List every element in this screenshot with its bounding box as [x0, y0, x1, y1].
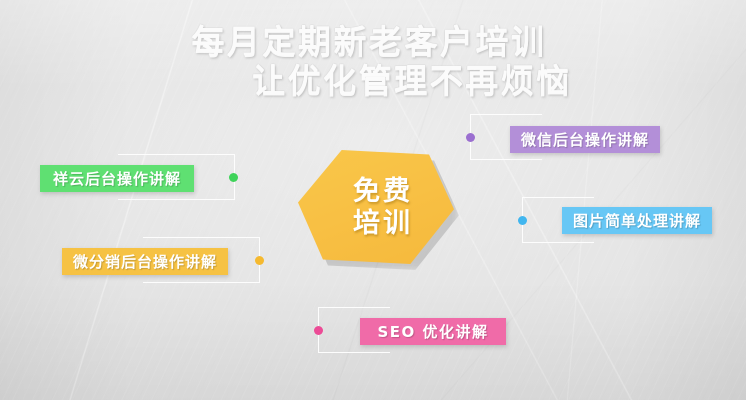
connector-dot-xiangyun: [229, 173, 238, 182]
poster-title: 每月定期新老客户培训 让优化管理不再烦恼: [0, 22, 746, 100]
branch-label-weifenxiao[interactable]: 微分销后台操作讲解: [62, 248, 228, 275]
branch-label-tupian[interactable]: 图片简单处理讲解: [562, 207, 712, 234]
connector-dot-weifenxiao: [255, 256, 264, 265]
branch-label-weixin[interactable]: 微信后台操作讲解: [510, 126, 660, 153]
connector-dot-weixin: [466, 133, 475, 142]
poster-canvas: 每月定期新老客户培训 让优化管理不再烦恼 免费 培训 祥云后台操作讲解 微分销后…: [0, 0, 746, 400]
connector-dot-tupian: [518, 216, 527, 225]
title-line-1: 每月定期新老客户培训: [0, 22, 746, 61]
hexagon-label: 免费 培训: [298, 150, 454, 264]
branch-label-xiangyun[interactable]: 祥云后台操作讲解: [40, 165, 194, 192]
connector-dot-seo: [314, 326, 323, 335]
title-line-2: 让优化管理不再烦恼: [0, 61, 746, 100]
hexagon-text-line-1: 免费: [353, 177, 413, 207]
free-training-hexagon[interactable]: 免费 培训: [298, 150, 454, 264]
branch-label-seo[interactable]: SEO 优化讲解: [360, 318, 506, 345]
hexagon-text-line-2: 培训: [353, 209, 413, 239]
